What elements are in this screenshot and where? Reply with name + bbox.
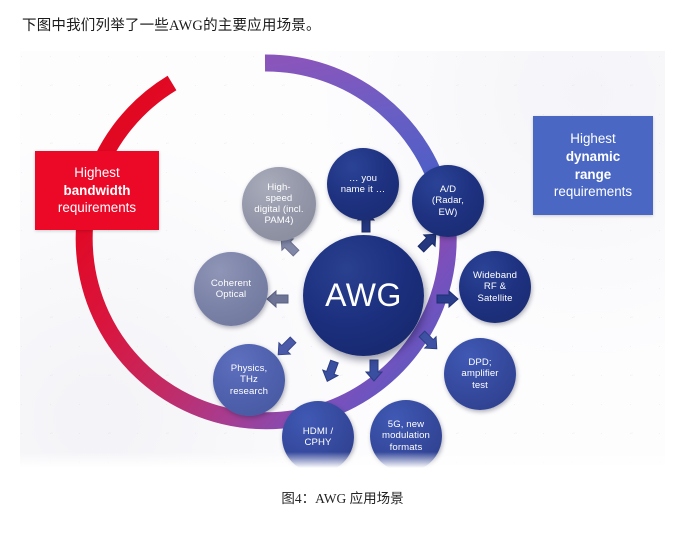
callout-highest-dynamic-range: Highest dynamic range requirements	[533, 116, 653, 215]
bubble-line: amplifier	[461, 368, 498, 379]
bubble-line: formats	[382, 442, 430, 453]
bubble-line: EW)	[432, 207, 464, 218]
intro-paragraph: 下图中我们列举了一些AWG的主要应用场景。	[22, 14, 321, 35]
bubble-dpd-amplifier-test[interactable]: DPD; amplifier test	[444, 338, 516, 410]
bubble-line: modulation	[382, 430, 430, 441]
callout-line: requirements	[543, 183, 643, 201]
bubble-high-speed-digital-pam4[interactable]: High- speed digital (incl. PAM4)	[242, 167, 316, 241]
bubble-ad-radar-ew[interactable]: A/D (Radar, EW)	[412, 165, 484, 237]
bubble-you-name-it[interactable]: … you name it …	[327, 148, 399, 220]
callout-line: Highest	[543, 130, 643, 148]
arrow-lower-left-icon	[273, 334, 299, 360]
center-label: AWG	[325, 277, 402, 314]
bubble-line: PAM4)	[254, 215, 303, 226]
bubble-line: digital (incl.	[254, 204, 303, 215]
arrow-left-icon	[265, 286, 291, 312]
figure-caption: 图4：AWG 应用场景	[0, 487, 685, 507]
bubble-hdmi-cphy[interactable]: HDMI / CPHY	[282, 401, 354, 468]
bubble-line: Satellite	[473, 293, 517, 304]
bubble-line: Wideband	[473, 270, 517, 281]
bubble-line: A/D	[432, 184, 464, 195]
bubble-line: RF &	[473, 281, 517, 292]
diagram-panel: … you name it … A/D (Radar, EW) Wideband…	[20, 51, 665, 468]
arrow-down-right-icon	[416, 328, 442, 354]
bubble-line: Physics,	[230, 363, 268, 374]
bubble-physics-thz-research[interactable]: Physics, THz research	[213, 344, 285, 416]
arrow-right-icon	[434, 286, 460, 312]
bubble-wideband-rf-satellite[interactable]: Wideband RF & Satellite	[459, 251, 531, 323]
callout-line-bold: bandwidth	[45, 182, 149, 200]
arrow-down-left-icon	[318, 358, 344, 384]
bubble-line: 5G, new	[382, 419, 430, 430]
bubble-line: research	[230, 386, 268, 397]
bubble-line: speed	[254, 193, 303, 204]
bubble-coherent-optical[interactable]: Coherent Optical	[194, 252, 268, 326]
bubble-line: name it …	[341, 184, 386, 195]
bubble-line: HDMI /	[303, 426, 333, 437]
bubble-line: (Radar,	[432, 195, 464, 206]
callout-highest-bandwidth: Highest bandwidth requirements	[35, 151, 159, 230]
bubble-line: CPHY	[303, 437, 333, 448]
arrow-down-icon	[361, 357, 387, 383]
bubble-line: High-	[254, 182, 303, 193]
bubble-line: Coherent	[211, 278, 251, 289]
callout-line: requirements	[45, 199, 149, 217]
callout-line-bold: dynamic	[543, 148, 643, 166]
bubble-5g-modulation-formats[interactable]: 5G, new modulation formats	[370, 400, 442, 468]
bubble-line: … you	[341, 173, 386, 184]
bubble-line: Optical	[211, 289, 251, 300]
bubble-line: THz	[230, 374, 268, 385]
center-bubble-awg[interactable]: AWG	[303, 235, 424, 356]
figure-page: 下图中我们列举了一些AWG的主要应用场景。	[0, 0, 685, 535]
callout-line: Highest	[45, 164, 149, 182]
bubble-line: test	[461, 380, 498, 391]
bubble-line: DPD;	[461, 357, 498, 368]
callout-line-bold: range	[543, 166, 643, 184]
